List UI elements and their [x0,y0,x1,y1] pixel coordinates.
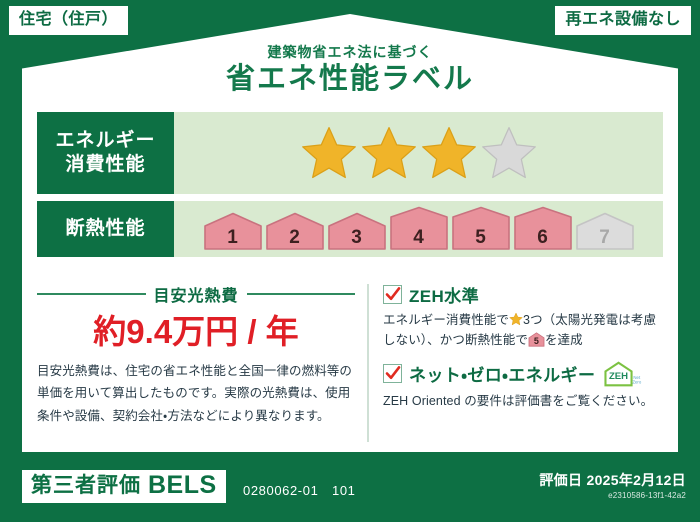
bels-energy-label: 住宅（住戸） 再エネ設備なし 建築物省エネ法に基づく 省エネ性能ラベル エネルギ… [0,0,700,522]
net-zero-description: ZEH Oriented の要件は評価書をご覧ください。 [383,391,663,411]
renewable-equipment-badge: 再エネ設備なし [555,6,691,35]
checkbox-checked-icon[interactable] [383,285,402,304]
insulation-grade-scale: 1234567 [174,201,663,257]
svg-text:ZEH: ZEH [609,371,628,382]
rule-right [247,293,356,295]
inline-grade-value: 5 [528,332,545,347]
svg-text:Zero: Zero [633,379,642,384]
star-empty-icon [480,125,538,181]
evaluation-date-value: 2025年2月12日 [586,472,686,488]
cost-heading: 目安光熱費 [37,282,355,306]
insulation-performance-label: 断熱性能 [37,201,174,257]
zeh-house-logo-icon: ZEH Net Zero [602,360,642,388]
star-filled-icon [300,125,358,181]
footer: 第三者評価 BELS 0280062-01 101 評価日 2025年2月12日… [0,460,700,522]
cost-note: 目安光熱費は、住宅の省エネ性能と全国一律の燃料等の単価を用いて算出したものです。… [37,360,355,427]
cost-heading-text: 目安光熱費 [154,282,239,306]
evaluation-date: 評価日 2025年2月12日 [539,472,686,489]
bels-number: 0280062-01 101 [243,480,356,499]
zeh-desc-part1: エネルギー消費性能で [383,313,509,327]
footer-right: 評価日 2025年2月12日 e2310586-13f1-42a2 [539,472,686,500]
net-zero-energy-item: ネット・ゼロ・エネルギー ZEH Net Zero ZEH Oriented の… [383,360,663,411]
energy-performance-row: エネルギー 消費性能 [37,112,663,194]
zeh-standard-description: エネルギー消費性能で3つ（太陽光発電は考慮しない）、かつ断熱性能で5を達成 [383,310,663,351]
zeh-panel: ZEH水準 エネルギー消費性能で3つ（太陽光発電は考慮しない）、かつ断熱性能で5… [383,282,663,444]
insulation-grade-2: 2 [265,212,325,250]
serial-code: e2310586-13f1-42a2 [539,491,686,500]
insulation-grade-value: 4 [389,228,449,247]
header-subtitle: 建築物省エネ法に基づく [22,42,678,62]
energy-label-line1: エネルギー [55,129,155,153]
zeh-standard-title: ZEH水準 [409,282,479,307]
star-rating [174,112,663,194]
checkbox-checked-icon[interactable] [383,364,402,383]
insulation-grade-value: 1 [203,228,263,247]
energy-performance-label: エネルギー 消費性能 [37,112,174,194]
zeh-standard-item: ZEH水準 エネルギー消費性能で3つ（太陽光発電は考慮しない）、かつ断熱性能で5… [383,282,663,351]
insulation-grade-7: 7 [575,212,635,250]
energy-label-line2: 消費性能 [65,153,145,177]
evaluation-date-label: 評価日 [539,472,582,488]
building-type-badge: 住宅（住戸） [9,6,128,35]
inline-star-icon [509,312,523,326]
net-zero-title: ネット・ゼロ・エネルギー [409,361,595,386]
insulation-grade-4: 4 [389,206,449,250]
zeh-desc-part3: を達成 [545,333,583,347]
star-filled-icon [420,125,478,181]
insulation-grade-1: 1 [203,212,263,250]
inline-grade-5-icon: 5 [528,332,545,347]
insulation-grade-value: 7 [575,228,635,247]
cost-panel: 目安光熱費 約9.4万円 / 年 目安光熱費は、住宅の省エネ性能と全国一律の燃料… [37,282,367,444]
bels-en-text: BELS [148,473,217,498]
lower-section: 目安光熱費 約9.4万円 / 年 目安光熱費は、住宅の省エネ性能と全国一律の燃料… [37,282,663,444]
insulation-grade-6: 6 [513,206,573,250]
zeh-standard-title-row: ZEH水準 [383,282,663,307]
star-filled-icon [360,125,418,181]
rule-left [37,293,146,295]
bels-jp-text: 第三者評価 [31,475,141,496]
header: 建築物省エネ法に基づく 省エネ性能ラベル [22,42,678,96]
net-zero-title-row: ネット・ゼロ・エネルギー ZEH Net Zero [383,360,663,388]
insulation-grade-value: 6 [513,228,573,247]
insulation-grade-5: 5 [451,206,511,250]
insulation-grade-value: 3 [327,228,387,247]
insulation-grade-value: 2 [265,228,325,247]
page-title: 省エネ性能ラベル [22,64,678,96]
vertical-divider [367,284,369,442]
insulation-grade-value: 5 [451,228,511,247]
performance-rows: エネルギー 消費性能 断熱性能 1234567 [37,112,663,264]
insulation-grade-3: 3 [327,212,387,250]
cost-amount: 約9.4万円 / 年 [37,315,355,348]
insulation-label-line1: 断熱性能 [65,217,145,241]
insulation-performance-row: 断熱性能 1234567 [37,201,663,257]
bels-logo: 第三者評価 BELS [22,470,226,503]
